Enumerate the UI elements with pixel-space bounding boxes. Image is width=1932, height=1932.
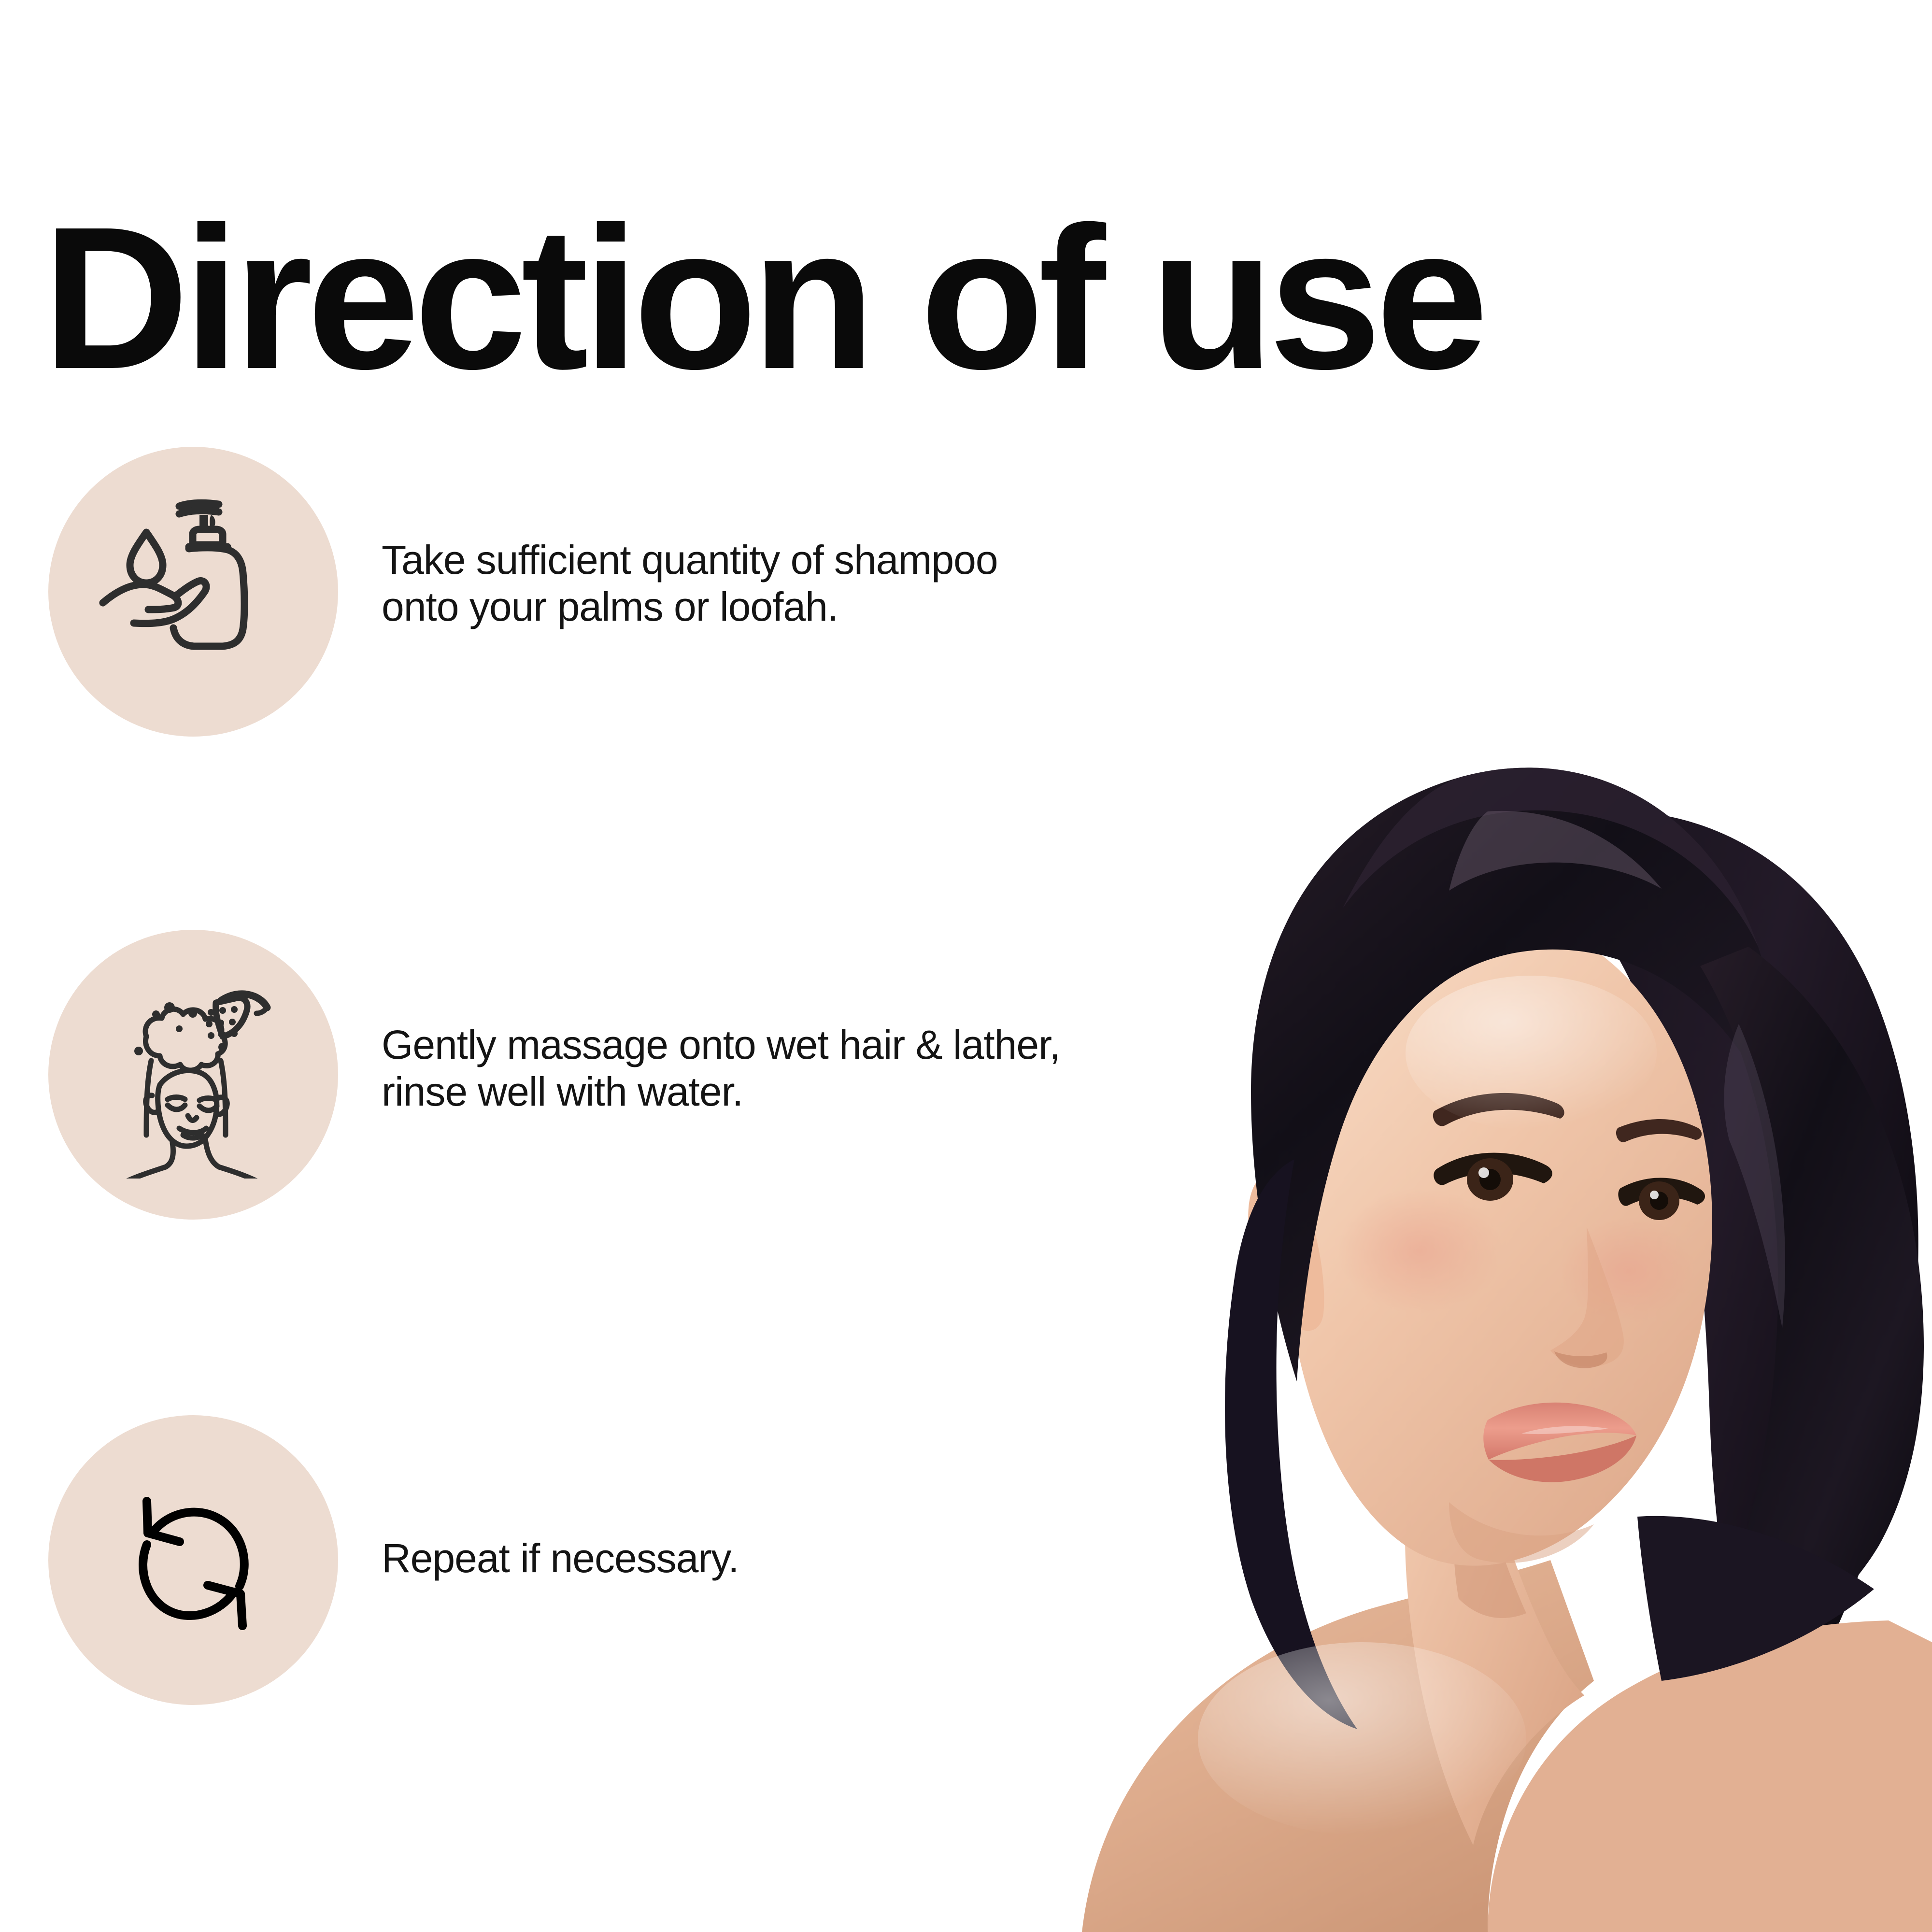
direction-of-use-page: Direction of use xyxy=(0,0,1932,1932)
repeat-circular-arrows-icon xyxy=(48,1415,338,1705)
step-description: Repeat if necessary. xyxy=(382,1535,739,1582)
step-description: Take sufficient quantity of shampoo onto… xyxy=(382,537,998,631)
hand-with-soap-dispenser-icon xyxy=(48,447,338,737)
step-item: Repeat if necessary. xyxy=(0,1415,1256,1705)
step-item: Gently massage onto wet hair & lather, r… xyxy=(0,930,1256,1220)
steps-list: Take sufficient quantity of shampoo onto… xyxy=(0,0,1256,1932)
head-lather-showerhead-icon xyxy=(48,930,338,1220)
step-description: Gently massage onto wet hair & lather, r… xyxy=(382,1022,1060,1116)
step-item: Take sufficient quantity of shampoo onto… xyxy=(0,447,1256,737)
